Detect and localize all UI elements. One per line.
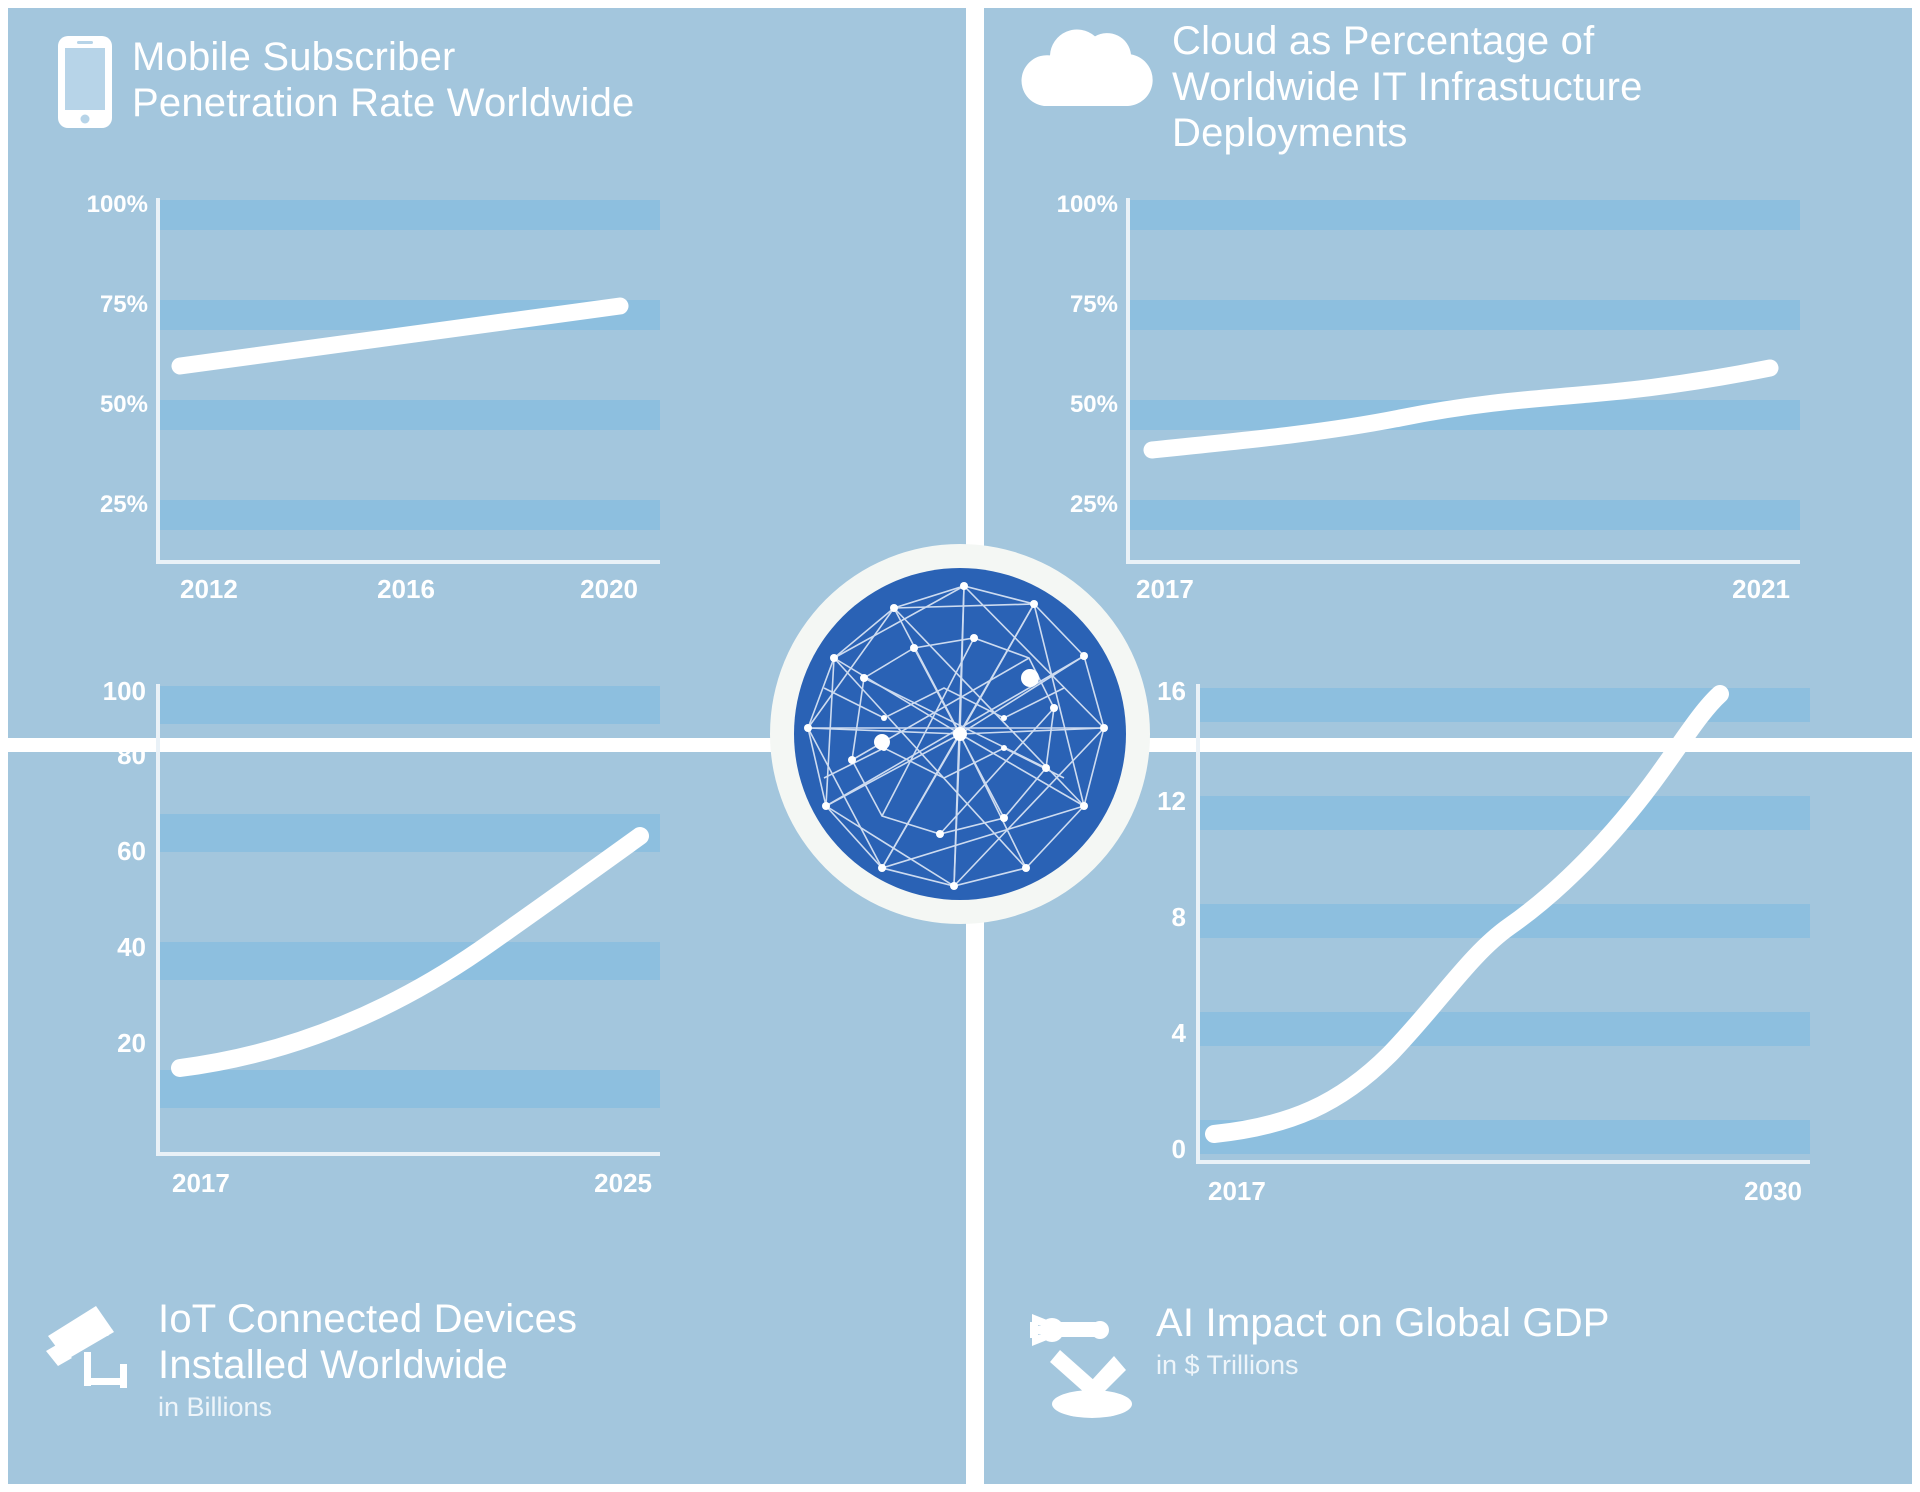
x-tick-label: 2017 — [1208, 1176, 1266, 1206]
x-tick-label: 2012 — [180, 574, 238, 604]
x-tick-label: 2017 — [172, 1168, 230, 1198]
y-tick-label: 75% — [1070, 291, 1118, 318]
y-tick-label: 8 — [1172, 902, 1186, 932]
y-tick-label: 4 — [1172, 1018, 1187, 1048]
y-tick-label: 100% — [87, 191, 148, 218]
panel-ai-heading: AI Impact on Global GDP in $ Trillions — [1030, 1300, 1610, 1423]
y-tick-label: 100% — [1057, 191, 1118, 218]
y-tick-label: 20 — [117, 1028, 146, 1058]
y-tick-label: 50% — [100, 391, 148, 418]
infographic-root: Mobile Subscriber Penetration Rate World… — [0, 0, 1920, 1492]
y-tick-label: 40 — [117, 932, 146, 962]
panel-mobile-title: Mobile Subscriber Penetration Rate World… — [132, 34, 635, 126]
panel-cloud-heading: Cloud as Percentage of Worldwide IT Infr… — [1014, 18, 1643, 156]
panel-mobile-heading: Mobile Subscriber Penetration Rate World… — [56, 34, 635, 135]
y-tick-label: 60 — [117, 836, 146, 866]
panel-iot-subtitle: in Billions — [158, 1390, 577, 1424]
panel-ai-title: AI Impact on Global GDP — [1156, 1300, 1610, 1346]
y-tick-label: 50% — [1070, 391, 1118, 418]
x-tick-label: 2016 — [377, 574, 435, 604]
panel-iot-heading: IoT Connected Devices Installed Worldwid… — [44, 1296, 577, 1424]
y-tick-label: 80 — [117, 740, 146, 770]
cloud-icon — [1014, 18, 1154, 119]
chart-bands — [1128, 200, 1800, 530]
y-tick-label: 16 — [1157, 676, 1186, 706]
robot-arm-icon — [1030, 1300, 1138, 1423]
chart-bands — [158, 686, 660, 1108]
y-tick-label: 100 — [103, 676, 146, 706]
x-tick-label: 2030 — [1744, 1176, 1802, 1206]
y-tick-label: 25% — [1070, 491, 1118, 518]
x-tick-label: 2025 — [594, 1168, 652, 1198]
panel-cloud-title: Cloud as Percentage of Worldwide IT Infr… — [1172, 18, 1643, 156]
network-globe-icon — [764, 538, 1156, 930]
y-tick-label: 12 — [1157, 786, 1186, 816]
y-tick-label: 25% — [100, 491, 148, 518]
security-camera-icon — [44, 1296, 140, 1393]
panel-iot-title: IoT Connected Devices Installed Worldwid… — [158, 1296, 577, 1388]
x-tick-label: 2020 — [580, 574, 638, 604]
chart-ai: 16 12 8 4 0 2017 2030 — [1140, 664, 1810, 1274]
y-tick-label: 0 — [1172, 1134, 1186, 1164]
chart-mobile: 100% 75% 50% 25% 2012 2016 2020 — [40, 182, 660, 652]
panel-ai-subtitle: in $ Trillions — [1156, 1348, 1610, 1382]
chart-iot: 100 80 60 40 20 2017 2025 — [40, 664, 660, 1274]
y-tick-label: 75% — [100, 291, 148, 318]
x-tick-label: 2021 — [1732, 574, 1790, 604]
smartphone-icon — [56, 34, 114, 135]
